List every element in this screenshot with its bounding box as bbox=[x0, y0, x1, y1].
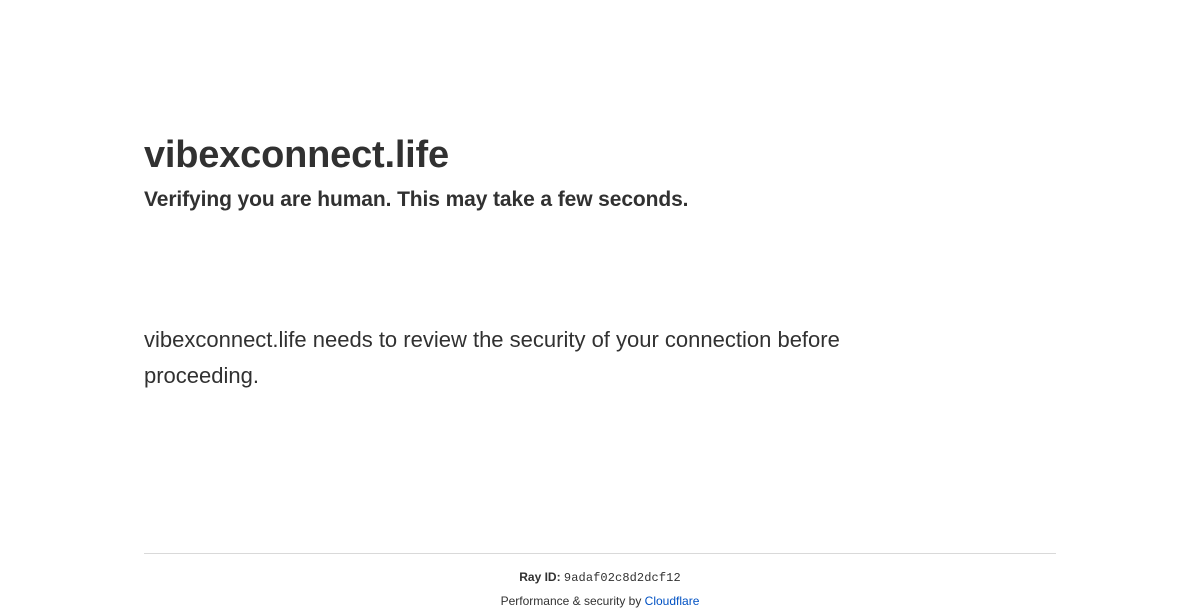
verification-status-text: Verifying you are human. This may take a… bbox=[144, 178, 1056, 214]
challenge-header: vibexconnect.life Verifying you are huma… bbox=[144, 0, 1056, 214]
page-footer: Ray ID: 9adaf02c8d2dcf12 Performance & s… bbox=[144, 553, 1056, 610]
challenge-page: vibexconnect.life Verifying you are huma… bbox=[0, 0, 1200, 600]
attribution-prefix: Performance & security by bbox=[501, 594, 645, 608]
cloudflare-link[interactable]: Cloudflare bbox=[645, 594, 700, 608]
ray-id-label: Ray ID: bbox=[519, 570, 560, 584]
ray-id-line: Ray ID: 9adaf02c8d2dcf12 bbox=[144, 568, 1056, 587]
page-title: vibexconnect.life bbox=[144, 132, 1056, 178]
ray-id-value: 9adaf02c8d2dcf12 bbox=[564, 571, 681, 585]
footer-content: Ray ID: 9adaf02c8d2dcf12 Performance & s… bbox=[144, 554, 1056, 610]
challenge-content: vibexconnect.life Verifying you are huma… bbox=[144, 0, 1056, 394]
challenge-description: vibexconnect.life needs to review the se… bbox=[144, 314, 944, 394]
attribution-line: Performance & security by Cloudflare bbox=[144, 587, 1056, 610]
turnstile-widget-slot[interactable] bbox=[144, 236, 1056, 314]
